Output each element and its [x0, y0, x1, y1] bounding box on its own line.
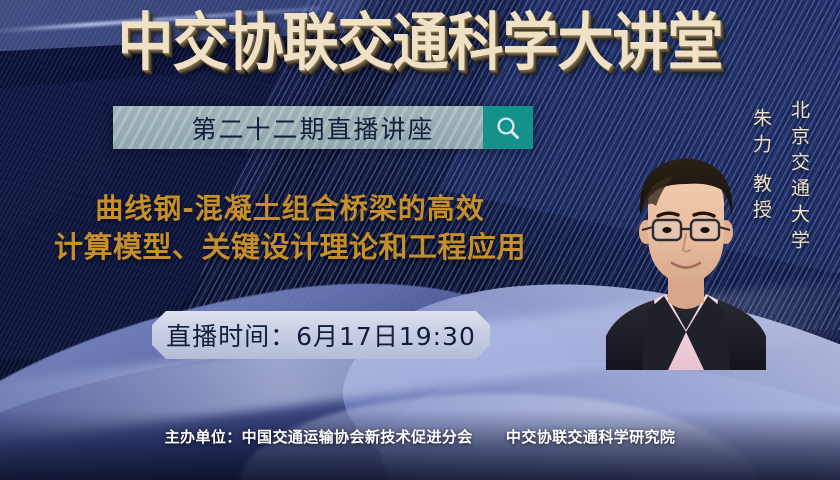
episode-banner: 第二十二期直播讲座 — [113, 106, 533, 149]
broadcast-time-text: 直播时间：6月17日19:30 — [166, 317, 476, 353]
lecture-headline: 曲线钢-混凝土组合桥梁的高效 计算模型、关键设计理论和工程应用 — [0, 190, 580, 268]
organizer-primary: 主办单位：中国交通运输协会新技术促进分会 — [165, 428, 473, 446]
page-title: 中交协联交通科学大讲堂 — [0, 13, 840, 76]
webinar-poster: 中交协联交通科学大讲堂 第二十二期直播讲座 曲线钢-混凝土组合桥梁的高效 计算模… — [0, 0, 840, 480]
broadcast-time-banner: 直播时间：6月17日19:30 — [152, 311, 490, 359]
speaker-name-title: 朱力 教授 — [748, 108, 775, 225]
lecture-headline-line-2: 计算模型、关键设计理论和工程应用 — [0, 228, 580, 267]
organizer-footer: 主办单位：中国交通运输协会新技术促进分会 中交协联交通科学研究院 — [0, 426, 840, 447]
episode-banner-body: 第二十二期直播讲座 — [113, 106, 483, 149]
lecture-headline-line-1: 曲线钢-混凝土组合桥梁的高效 — [0, 190, 580, 228]
organizer-secondary: 中交协联交通科学研究院 — [506, 428, 675, 446]
episode-label: 第二十二期直播讲座 — [161, 110, 434, 146]
speaker-affiliation: 北京交通大学 — [786, 100, 813, 256]
search-icon[interactable] — [483, 106, 533, 149]
